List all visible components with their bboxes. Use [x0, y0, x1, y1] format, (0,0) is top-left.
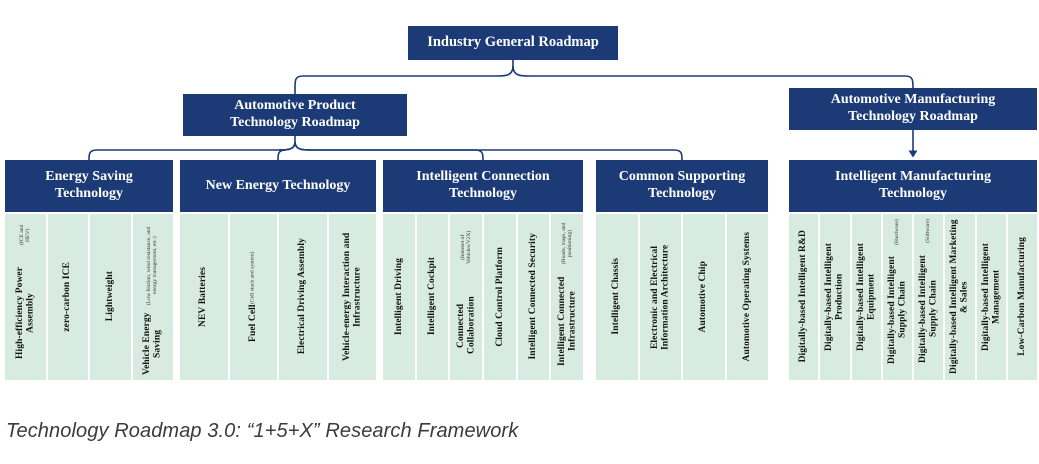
column-text-wrap: Lightweight: [90, 214, 131, 380]
column-text-wrap: Vehicle-energy Interaction and Infrastru…: [329, 214, 377, 380]
column-text-wrap: Automotive Chip: [683, 214, 725, 380]
technology-roadmap-diagram: Industry General Roadmap Automotive Prod…: [0, 0, 1039, 464]
column-text-wrap: Automotive Operating Systems: [727, 214, 769, 380]
column-label: Intelligent Driving: [394, 258, 405, 335]
column-sublabel: (Internet of Vehicles/V2X): [460, 219, 472, 276]
group-header-intelligent-manufacturing-label: Intelligent ManufacturingTechnology: [835, 169, 991, 202]
column-text-wrap: Electronic and Electrical Information Ar…: [640, 214, 682, 380]
box-automotive-manufacturing-label: Automotive ManufacturingTechnology Roadm…: [831, 92, 996, 125]
column-text-wrap: Vehicle Energy Saving(Low friction, wind…: [133, 214, 174, 380]
column-new-energy-1[interactable]: NEV Batteries: [180, 214, 230, 380]
column-text-wrap: Low-Carbon Manufacturing: [1008, 214, 1037, 380]
column-intelligent-manufacturing-6[interactable]: Digitally-based Intelligent Marketing & …: [945, 214, 976, 380]
group-header-energy-saving-label: Energy SavingTechnology: [45, 169, 133, 202]
column-text-wrap: Digitally-based Intelligent Marketing & …: [945, 214, 974, 380]
column-text-wrap: Digitally-based Intelligent Production: [820, 214, 849, 380]
column-new-energy-3[interactable]: Electrical Driving Assembly: [279, 214, 329, 380]
column-energy-saving-3[interactable]: Lightweight: [90, 214, 133, 380]
column-text-wrap: Digitally-based Intelligent R&D: [789, 214, 818, 380]
column-label: Cloud Control Platform: [495, 247, 506, 347]
column-text-wrap: Intelligent Chassis: [596, 214, 638, 380]
column-label: Intelligent Chassis: [611, 258, 622, 335]
columns-new-energy: NEV BatteriesFuel Cell(Cell stack and sy…: [180, 214, 376, 380]
column-label: Digitally-based Intelligent Supply Chain: [887, 244, 908, 374]
column-intelligent-manufacturing-8[interactable]: Low-Carbon Manufacturing: [1008, 214, 1037, 380]
column-text-wrap: NEV Batteries: [180, 214, 228, 380]
column-common-supporting-3[interactable]: Automotive Chip: [683, 214, 727, 380]
column-intelligent-manufacturing-2[interactable]: Digitally-based Intelligent Production: [820, 214, 851, 380]
column-label: Intelligent Cockpit: [427, 257, 438, 335]
column-intelligent-connection-2[interactable]: Intelligent Cockpit: [417, 214, 451, 380]
column-label: Connected Collaboration: [456, 275, 477, 374]
column-label: Intelligent Connected Security: [528, 233, 539, 360]
column-label: Intelligent Connected Infrastructure: [557, 268, 578, 375]
column-text-wrap: Intelligent Connected Security: [518, 214, 550, 380]
column-label: Automotive Operating Systems: [742, 232, 753, 361]
column-label: zero-carbon ICE: [62, 262, 73, 332]
column-label: High-efficiency Power Assembly: [15, 251, 36, 375]
columns-common-supporting: Intelligent ChassisElectronic and Electr…: [596, 214, 768, 380]
column-intelligent-manufacturing-5[interactable]: Digitally-based Intelligent Supply Chain…: [914, 214, 945, 380]
columns-intelligent-connection: Intelligent DrivingIntelligent CockpitCo…: [383, 214, 583, 380]
columns-intelligent-manufacturing: Digitally-based Intelligent R&DDigitally…: [789, 214, 1037, 380]
column-text-wrap: zero-carbon ICE: [48, 214, 89, 380]
group-header-common-supporting[interactable]: Common SupportingTechnology: [596, 160, 768, 212]
box-automotive-product-technology-roadmap[interactable]: Automotive ProductTechnology Roadmap: [183, 94, 407, 136]
column-label: Electrical Driving Assembly: [297, 238, 308, 354]
box-automotive-manufacturing-technology-roadmap[interactable]: Automotive ManufacturingTechnology Roadm…: [789, 88, 1037, 130]
column-label: Digitally-based Intelligent R&D: [798, 230, 809, 362]
column-text-wrap: Digitally-based Intelligent Equipment: [852, 214, 881, 380]
column-label: Low-Carbon Manufacturing: [1017, 237, 1028, 356]
column-intelligent-connection-6[interactable]: Intelligent Connected Infrastructure(Roa…: [551, 214, 583, 380]
column-text-wrap: Connected Collaboration(Internet of Vehi…: [450, 214, 482, 380]
figure-caption: Technology Roadmap 3.0: “1+5+X” Research…: [6, 420, 518, 443]
group-header-new-energy[interactable]: New Energy Technology: [180, 160, 376, 212]
group-header-common-supporting-label: Common SupportingTechnology: [619, 169, 745, 202]
column-label: Electronic and Electrical Information Ar…: [650, 219, 671, 375]
column-label: Lightweight: [105, 271, 116, 321]
column-new-energy-4[interactable]: Vehicle-energy Interaction and Infrastru…: [329, 214, 377, 380]
group-header-energy-saving[interactable]: Energy SavingTechnology: [5, 160, 173, 212]
column-text-wrap: Fuel Cell(Cell stack and system): [230, 214, 278, 380]
column-label: NEV Batteries: [198, 267, 209, 327]
column-common-supporting-1[interactable]: Intelligent Chassis: [596, 214, 640, 380]
column-label: Digitally-based Intelligent Marketing & …: [949, 219, 970, 375]
group-header-intelligent-connection[interactable]: Intelligent ConnectionTechnology: [383, 160, 583, 212]
column-text-wrap: Electrical Driving Assembly: [279, 214, 327, 380]
column-intelligent-manufacturing-1[interactable]: Digitally-based Intelligent R&D: [789, 214, 820, 380]
root-box-industry-general-roadmap[interactable]: Industry General Roadmap: [408, 26, 618, 60]
column-sublabel: (Software): [925, 219, 931, 243]
column-intelligent-connection-4[interactable]: Cloud Control Platform: [484, 214, 518, 380]
column-label: Automotive Chip: [698, 261, 709, 332]
column-common-supporting-2[interactable]: Electronic and Electrical Information Ar…: [640, 214, 684, 380]
column-label: Digitally-based Intelligent Management: [981, 219, 1002, 375]
column-label: Digitally-based Intelligent Equipment: [856, 219, 877, 375]
column-sublabel: (Roads, maps, and positioning): [561, 219, 573, 268]
column-intelligent-manufacturing-4[interactable]: Digitally-based Intelligent Supply Chain…: [883, 214, 914, 380]
column-label: Digitally-based Intelligent Supply Chain: [918, 242, 939, 374]
column-intelligent-connection-1[interactable]: Intelligent Driving: [383, 214, 417, 380]
column-label: Vehicle Energy Saving: [142, 312, 163, 375]
group-header-intelligent-manufacturing[interactable]: Intelligent ManufacturingTechnology: [789, 160, 1037, 212]
box-automotive-product-label: Automotive ProductTechnology Roadmap: [230, 98, 360, 131]
column-text-wrap: Cloud Control Platform: [484, 214, 516, 380]
column-label: Vehicle-energy Interaction and Infrastru…: [342, 219, 363, 375]
column-text-wrap: Digitally-based Intelligent Management: [977, 214, 1006, 380]
group-header-intelligent-connection-label: Intelligent ConnectionTechnology: [416, 169, 549, 202]
column-new-energy-2[interactable]: Fuel Cell(Cell stack and system): [230, 214, 280, 380]
column-energy-saving-4[interactable]: Vehicle Energy Saving(Low friction, wind…: [133, 214, 174, 380]
column-text-wrap: Intelligent Cockpit: [417, 214, 449, 380]
group-header-new-energy-label: New Energy Technology: [206, 178, 351, 195]
column-intelligent-connection-5[interactable]: Intelligent Connected Security: [518, 214, 552, 380]
column-sublabel: (Low friction, wind resistance, and ener…: [146, 219, 158, 312]
column-text-wrap: Digitally-based Intelligent Supply Chain…: [883, 214, 912, 380]
column-text-wrap: High-efficiency Power Assembly(ICE and H…: [5, 214, 46, 380]
columns-energy-saving: High-efficiency Power Assembly(ICE and H…: [5, 214, 173, 380]
column-sublabel: (Hardware): [894, 219, 900, 245]
column-intelligent-manufacturing-7[interactable]: Digitally-based Intelligent Management: [977, 214, 1008, 380]
column-common-supporting-4[interactable]: Automotive Operating Systems: [727, 214, 769, 380]
root-box-label: Industry General Roadmap: [427, 34, 599, 51]
column-intelligent-connection-3[interactable]: Connected Collaboration(Internet of Vehi…: [450, 214, 484, 380]
column-energy-saving-1[interactable]: High-efficiency Power Assembly(ICE and H…: [5, 214, 48, 380]
column-label: Fuel Cell: [248, 304, 259, 342]
column-text-wrap: Digitally-based Intelligent Supply Chain…: [914, 214, 943, 380]
column-text-wrap: Intelligent Connected Infrastructure(Roa…: [551, 214, 583, 380]
column-label: Digitally-based Intelligent Production: [824, 219, 845, 375]
column-sublabel: (Cell stack and system): [250, 252, 256, 304]
column-text-wrap: Intelligent Driving: [383, 214, 415, 380]
column-intelligent-manufacturing-3[interactable]: Digitally-based Intelligent Equipment: [852, 214, 883, 380]
column-energy-saving-2[interactable]: zero-carbon ICE: [48, 214, 91, 380]
column-sublabel: (ICE and HEV): [19, 219, 31, 251]
